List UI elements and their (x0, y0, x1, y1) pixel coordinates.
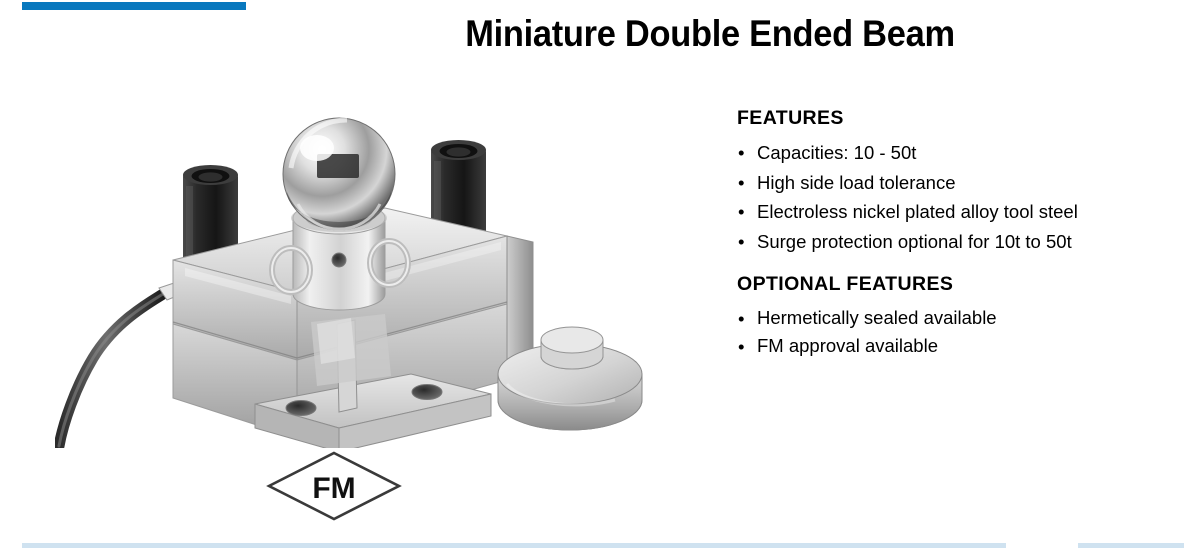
features-block: FEATURES • Capacities: 10 - 50t • High s… (737, 107, 1167, 256)
list-item: • FM approval available (737, 332, 1167, 360)
page-title: Miniature Double Ended Beam (422, 14, 999, 54)
ball-top (283, 118, 395, 232)
list-item-label: Capacities: 10 - 50t (757, 142, 916, 163)
features-heading: FEATURES (737, 107, 1167, 129)
footer-rule-main (22, 543, 1006, 548)
list-item: • Electroless nickel plated alloy tool s… (737, 197, 1167, 227)
list-item-label: Hermetically sealed available (757, 307, 997, 328)
list-item: • Hermetically sealed available (737, 304, 1167, 332)
optional-features-heading: OPTIONAL FEATURES (737, 273, 1167, 295)
bullet-icon: • (738, 332, 744, 362)
bullet-icon: • (738, 227, 744, 257)
bullet-icon: • (738, 138, 744, 168)
fm-mark-label: FM (312, 472, 355, 505)
bullet-icon: • (738, 304, 744, 334)
footer-rule-tail (1078, 543, 1184, 548)
features-list: • Capacities: 10 - 50t • High side load … (737, 138, 1167, 256)
list-item: • High side load tolerance (737, 168, 1167, 198)
bullet-icon: • (738, 197, 744, 227)
optional-features-list: • Hermetically sealed available • FM app… (737, 304, 1167, 360)
list-item-label: Surge protection optional for 10t to 50t (757, 231, 1072, 252)
top-accent-bar (22, 2, 246, 10)
fm-approval-mark: FM (266, 450, 402, 522)
list-item: • Surge protection optional for 10t to 5… (737, 227, 1167, 257)
list-item-label: High side load tolerance (757, 172, 956, 193)
list-item: • Capacities: 10 - 50t (737, 138, 1167, 168)
spec-column: FEATURES • Capacities: 10 - 50t • High s… (737, 107, 1167, 360)
bullet-icon: • (738, 168, 744, 198)
optional-features-block: OPTIONAL FEATURES • Hermetically sealed … (737, 273, 1167, 360)
product-photo (55, 108, 675, 448)
list-item-label: Electroless nickel plated alloy tool ste… (757, 201, 1078, 222)
list-item-label: FM approval available (757, 335, 938, 356)
